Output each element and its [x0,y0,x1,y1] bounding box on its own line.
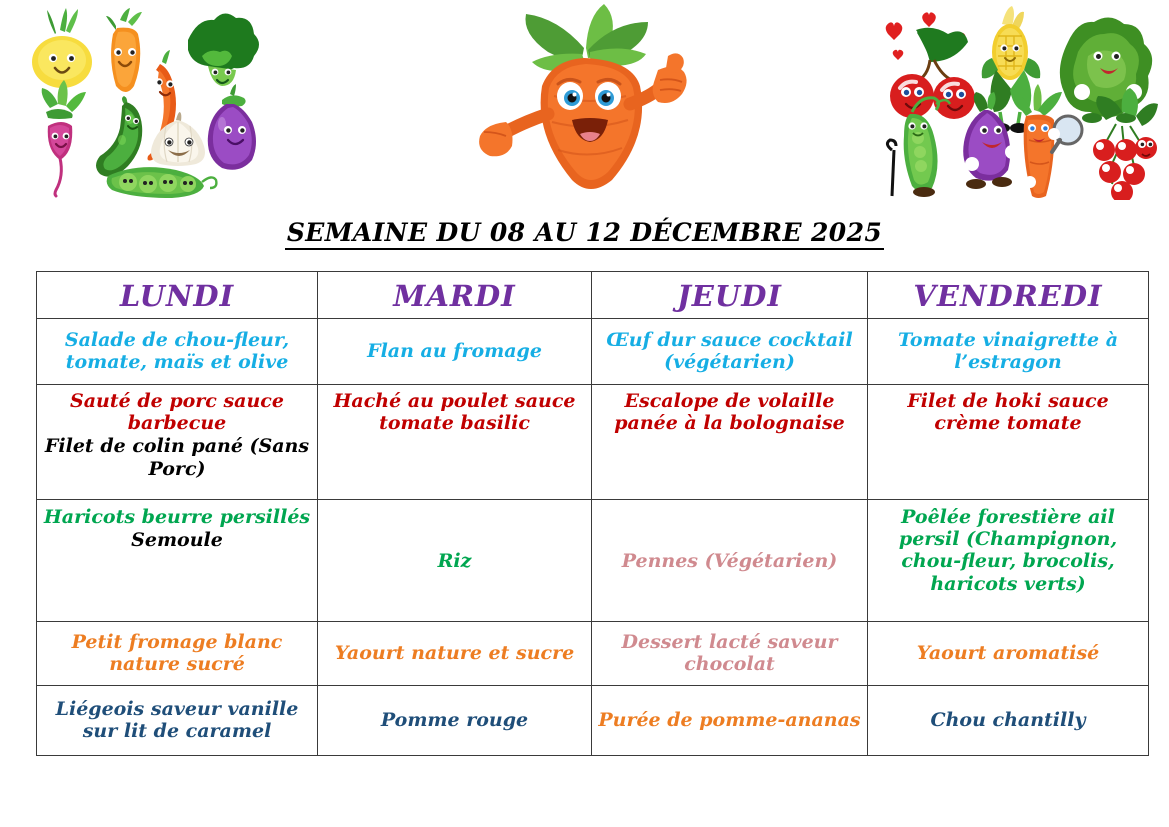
menu-cell-entree-vendredi: Tomate vinaigrette à l’estragon [868,319,1149,385]
dish-text: Filet de hoki sauce crème tomate [874,390,1142,434]
menu-cell-laitage-mardi: Yaourt nature et sucre [318,622,592,686]
menu-cell-garniture-mardi: Riz [318,500,592,622]
garlic-icon [151,112,205,166]
cartoon-fruits-vegetables-group [872,0,1160,200]
dish-text: Poêlée forestière ail persil (Champignon… [874,506,1142,595]
carrot-right-arm-icon [630,53,687,104]
onion-icon [32,8,92,88]
carrot-left-arm-icon [479,114,548,156]
menu-cell-plat-jeudi: Escalope de volaille panée à la bolognai… [592,385,868,500]
broccoli-icon [188,13,259,86]
clipart-band [0,0,1169,212]
menu-cell-laitage-jeudi: Dessert lacté saveur chocolat [592,622,868,686]
menu-row-laitage: Petit fromage blanc nature sucréYaourt n… [37,622,1149,686]
menu-cell-laitage-lundi: Petit fromage blanc nature sucré [37,622,318,686]
menu-cell-dessert-vendredi: Chou chantilly [868,686,1149,756]
dish-text: Liégeois saveur vanille sur lit de caram… [43,698,311,742]
menu-cell-garniture-vendredi: Poêlée forestière ail persil (Champignon… [868,500,1149,622]
dish-text: Flan au fromage [324,340,585,362]
page-title-wrap: SEMAINE DU 08 AU 12 DÉCEMBRE 2025 [0,218,1169,250]
dish-text: Œuf dur sauce cocktail (végétarien) [598,329,861,373]
day-label: JEUDI [677,279,782,313]
dish-text: Yaourt nature et sucre [324,642,585,664]
menu-body: Salade de chou-fleur, tomate, maïs et ol… [37,319,1149,756]
menu-cell-plat-mardi: Haché au poulet sauce tomate basilic [318,385,592,500]
menu-cell-plat-lundi: Sauté de porc sauce barbecueFilet de col… [37,385,318,500]
day-label: VENDREDI [913,279,1102,313]
dish-text: Purée de pomme-ananas [598,709,861,731]
menu-row-dessert: Liégeois saveur vanille sur lit de caram… [37,686,1149,756]
menu-cell-garniture-jeudi: Pennes (Végétarien) [592,500,868,622]
day-label: MARDI [393,279,515,313]
day-header-jeudi: JEUDI [592,272,868,319]
menu-cell-laitage-vendredi: Yaourt aromatisé [868,622,1149,686]
dish-text: Filet de colin pané (Sans Porc) [43,435,311,479]
eggplant-icon [208,84,256,170]
smiling-carrot-mascot [462,0,710,200]
cherries-icon [890,28,975,119]
menu-row-entree: Salade de chou-fleur, tomate, maïs et ol… [37,319,1149,385]
day-header-mardi: MARDI [318,272,592,319]
menu-cell-dessert-jeudi: Purée de pomme-ananas [592,686,868,756]
dish-text: Yaourt aromatisé [874,642,1142,664]
beetroot-icon [42,80,86,196]
menu-cell-dessert-lundi: Liégeois saveur vanille sur lit de caram… [37,686,318,756]
cucumber-icon [96,96,142,177]
carrot-icon [106,8,142,92]
menu-cell-entree-jeudi: Œuf dur sauce cocktail (végétarien) [592,319,868,385]
menu-cell-plat-vendredi: Filet de hoki sauce crème tomate [868,385,1149,500]
weekly-menu-table: LUNDI MARDI JEUDI VENDREDI Salade de cho… [36,271,1149,756]
page-title: SEMAINE DU 08 AU 12 DÉCEMBRE 2025 [285,218,884,250]
dish-text: Sauté de porc sauce barbecue [43,390,311,434]
cartoon-vegetables-group [12,0,268,205]
dish-text: Haricots beurre persillés [43,506,311,528]
menu-cell-entree-mardi: Flan au fromage [318,319,592,385]
table-header-row: LUNDI MARDI JEUDI VENDREDI [37,272,1149,319]
day-header-lundi: LUNDI [37,272,318,319]
dish-text: Petit fromage blanc nature sucré [43,631,311,675]
dish-text: Chou chantilly [874,709,1142,731]
menu-table-wrap: LUNDI MARDI JEUDI VENDREDI Salade de cho… [36,271,1148,756]
pea-pod-icon [107,167,217,198]
dish-text: Riz [324,550,585,572]
dish-text: Salade de chou-fleur, tomate, maïs et ol… [43,329,311,373]
redcurrants-icon [1093,88,1158,200]
dish-text: Tomate vinaigrette à l’estragon [874,329,1142,373]
dish-text: Semoule [43,529,311,551]
menu-cell-dessert-mardi: Pomme rouge [318,686,592,756]
dish-text: Pomme rouge [324,709,585,731]
dish-text: Haché au poulet sauce tomate basilic [324,390,585,434]
dish-text: Pennes (Végétarien) [598,550,861,572]
day-label: LUNDI [120,279,234,313]
menu-cell-entree-lundi: Salade de chou-fleur, tomate, maïs et ol… [37,319,318,385]
menu-cell-garniture-lundi: Haricots beurre persillésSemoule [37,500,318,622]
day-header-vendredi: VENDREDI [868,272,1149,319]
menu-row-plat: Sauté de porc sauce barbecueFilet de col… [37,385,1149,500]
dish-text: Escalope de volaille panée à la bolognai… [598,390,861,434]
menu-row-garniture: Haricots beurre persillésSemouleRizPenne… [37,500,1149,622]
dish-text: Dessert lacté saveur chocolat [598,631,861,675]
